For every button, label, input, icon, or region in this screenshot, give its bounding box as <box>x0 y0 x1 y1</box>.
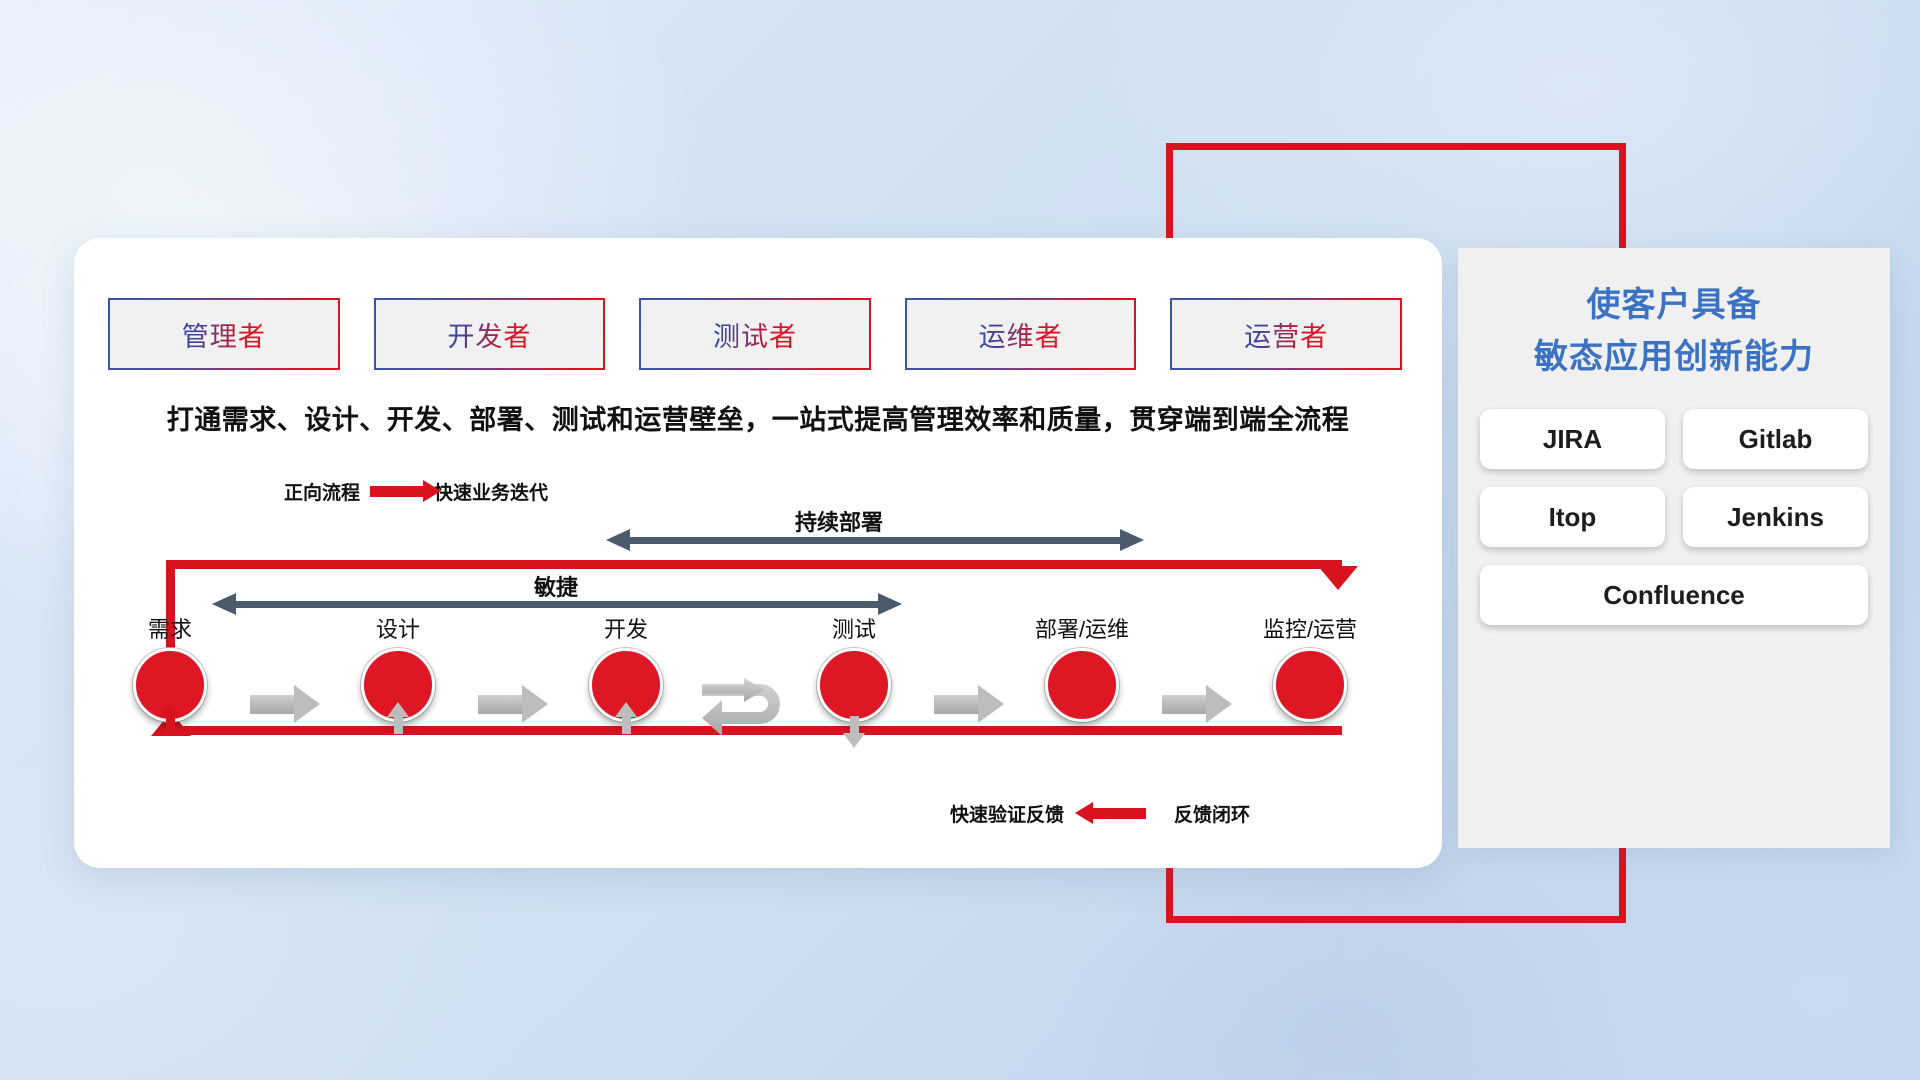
pipeline-stage-deploy-ops[interactable]: 部署/运维 <box>1022 612 1142 722</box>
role-label: 运营者 <box>1244 315 1328 354</box>
panel-title-line2: 敏态应用创新能力 <box>1458 332 1890 384</box>
stage-dot-icon <box>1045 648 1119 722</box>
role-label: 开发者 <box>447 315 531 354</box>
feedback-loop-top <box>166 560 1342 569</box>
legend-forward-left-label: 正向流程 <box>284 478 360 505</box>
role-label: 测试者 <box>713 315 797 354</box>
tools-panel: 使客户具备 敏态应用创新能力 JIRA Gitlab Itop Jenkins … <box>1458 248 1890 848</box>
loop-tick-test <box>850 716 859 734</box>
legend-feedback-left-label: 快速验证反馈 <box>950 800 1064 827</box>
role-label: 管理者 <box>182 315 266 354</box>
arrow-bar <box>478 695 522 714</box>
stage-label: 设计 <box>338 612 458 644</box>
arrow-head-right-icon <box>294 685 320 723</box>
stage-dot-icon <box>817 648 891 722</box>
pipeline-stage-test[interactable]: 测试 <box>794 612 914 722</box>
legend-feedback-loop: 快速验证反馈 反馈闭环 <box>950 800 1250 827</box>
arrow-bar <box>234 601 880 608</box>
arrow-head-left-icon <box>606 529 630 551</box>
arrow-bar <box>1162 695 1206 714</box>
stage-dot-icon <box>1273 648 1347 722</box>
loop-tick-develop <box>622 716 631 734</box>
arrow-head-right-icon <box>1120 529 1144 551</box>
loop-tick-requirements <box>166 716 175 734</box>
feedback-loop-arrowhead-down-icon <box>1318 566 1358 590</box>
panel-title: 使客户具备 敏态应用创新能力 <box>1458 248 1890 383</box>
role-box-developer[interactable]: 开发者 <box>376 300 604 368</box>
span-arrow-agile <box>212 597 902 611</box>
headline-text: 打通需求、设计、开发、部署、测试和运营壁垒，一站式提高管理效率和质量，贯穿端到端… <box>74 398 1442 437</box>
stage-label: 测试 <box>794 612 914 644</box>
tool-button-jenkins[interactable]: Jenkins <box>1683 487 1868 547</box>
arrow-head-right-icon <box>978 685 1004 723</box>
stage-label: 监控/运营 <box>1250 612 1370 644</box>
role-box-manager[interactable]: 管理者 <box>110 300 338 368</box>
tool-list: JIRA Gitlab Itop Jenkins Confluence <box>1458 409 1890 625</box>
role-label: 运维者 <box>979 315 1063 354</box>
span-arrow-continuous-deployment <box>606 533 1144 547</box>
role-box-tester[interactable]: 测试者 <box>641 300 869 368</box>
tool-button-gitlab[interactable]: Gitlab <box>1683 409 1868 469</box>
arrow-head-right-icon <box>522 685 548 723</box>
stage-label: 需求 <box>110 612 230 644</box>
arrow-bar <box>628 537 1122 544</box>
role-box-ops[interactable]: 运维者 <box>907 300 1135 368</box>
panel-title-line1: 使客户具备 <box>1458 280 1890 332</box>
pipeline: 需求 设计 开发 测试 部署/运维 <box>110 612 1410 732</box>
red-connector-top <box>1166 143 1626 150</box>
tool-button-jira[interactable]: JIRA <box>1480 409 1665 469</box>
legend-forward-flow: 正向流程 快速业务迭代 <box>284 478 548 505</box>
red-connector-bottom <box>1166 916 1626 923</box>
stage-label: 开发 <box>566 612 686 644</box>
legend-forward-right-label: 快速业务迭代 <box>434 478 548 505</box>
loop-tick-design <box>394 716 403 734</box>
arrow-right-red-icon <box>370 486 424 497</box>
tool-button-confluence[interactable]: Confluence <box>1480 565 1868 625</box>
role-box-operations[interactable]: 运营者 <box>1172 300 1400 368</box>
pipeline-stage-monitor-operations[interactable]: 监控/运营 <box>1250 612 1370 722</box>
arrow-left-red-icon <box>1092 808 1146 819</box>
legend-feedback-right-label: 反馈闭环 <box>1174 800 1250 827</box>
tool-button-itop[interactable]: Itop <box>1480 487 1665 547</box>
arrow-head-right-icon <box>1206 685 1232 723</box>
arrow-bar <box>250 695 294 714</box>
role-box-row: 管理者 开发者 测试者 运维者 运营者 <box>110 300 1400 368</box>
arrow-bar <box>934 695 978 714</box>
stage-label: 部署/运维 <box>1022 612 1142 644</box>
